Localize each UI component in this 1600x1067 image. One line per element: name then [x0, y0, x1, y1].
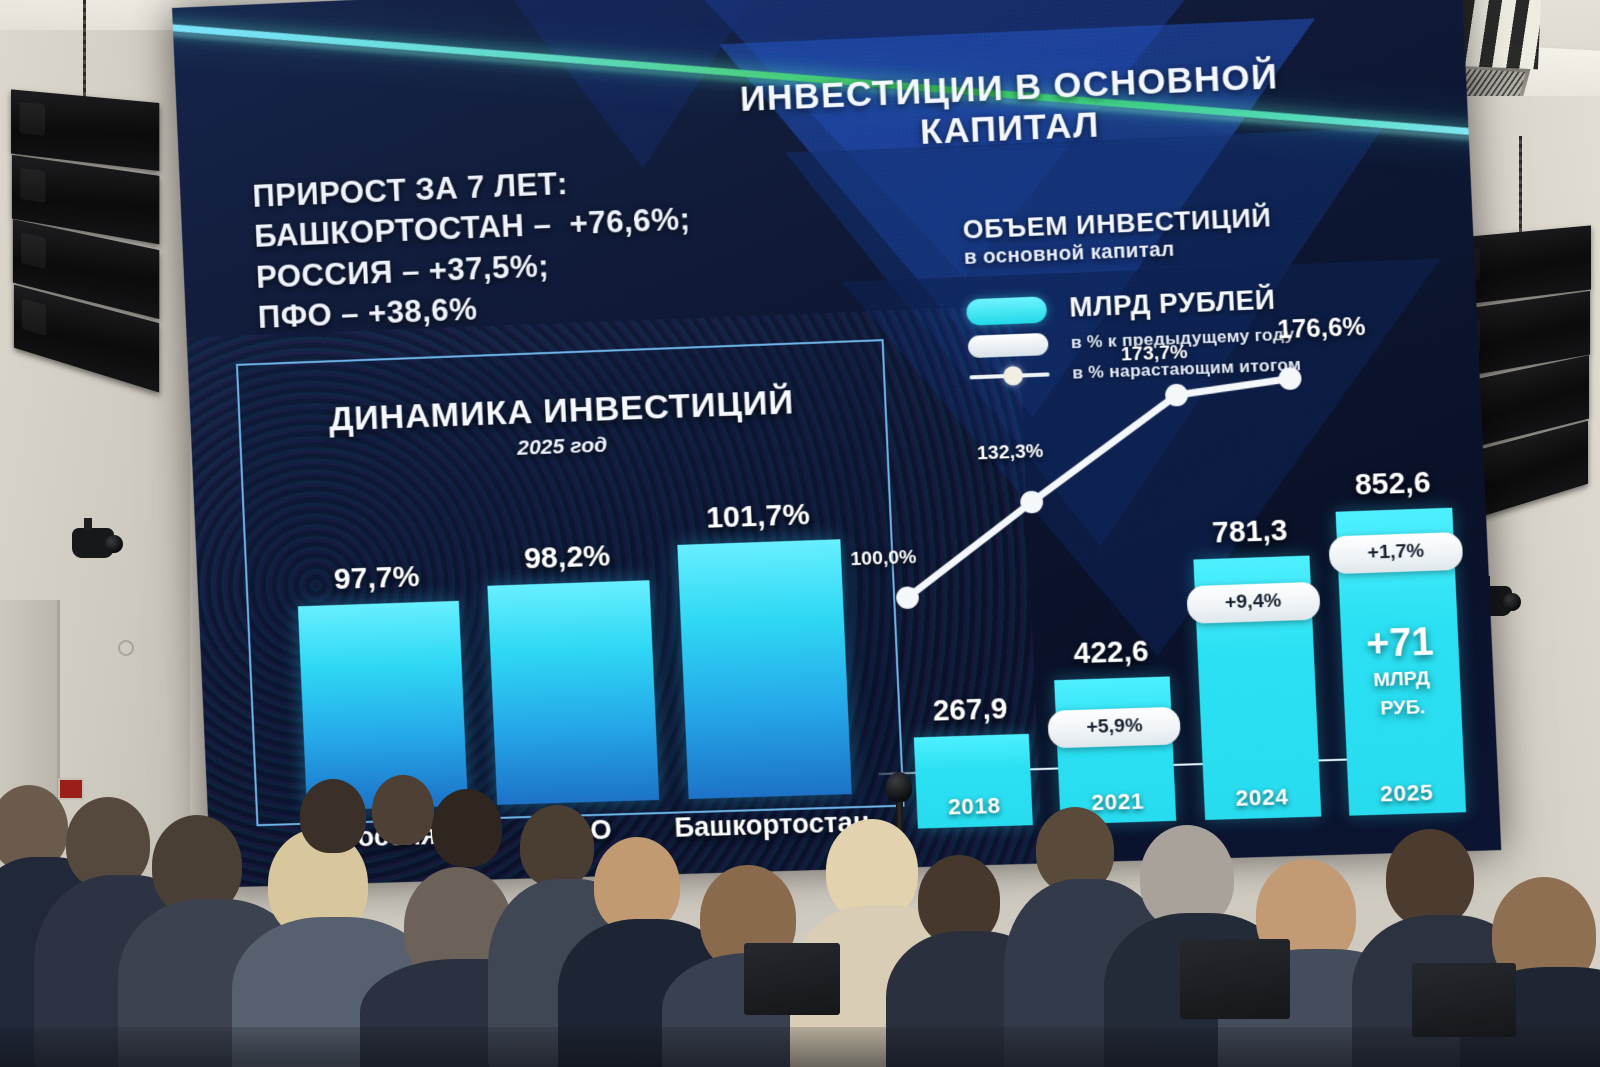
annotation-unit-2: РУБ.: [1344, 696, 1462, 723]
microphone-stand: [896, 790, 903, 896]
speaker-wire: [1519, 136, 1522, 236]
wall-camera-icon: [72, 528, 114, 558]
volume-year: 2018: [916, 792, 1032, 822]
dynamics-category: ПФО: [547, 815, 613, 848]
yoy-badge: +5,9%: [1048, 707, 1182, 749]
cyan-pill-icon: [966, 296, 1047, 325]
dynamics-bar: [487, 580, 659, 805]
smoke-detector-icon: [118, 640, 134, 656]
volume-annotation: +71 МЛРД РУБ.: [1341, 622, 1462, 723]
annotation-value: +71: [1341, 622, 1459, 665]
volume-column: 267,9 2018: [914, 734, 1033, 829]
yoy-badge: +1,7%: [1328, 532, 1463, 574]
volume-chart: 100,0% 132,3% 173,7% 176,6% 267,9: [896, 332, 1466, 829]
volume-bars: 267,9 2018 422,6 +5,9% 2021: [901, 424, 1466, 829]
volume-bar: 2018: [914, 734, 1033, 829]
volume-year: 2025: [1348, 778, 1466, 808]
legend-item-mlrd: МЛРД РУБЛЕЙ: [966, 283, 1299, 327]
cumulative-label: 176,6%: [1277, 312, 1366, 345]
speaker-array-left: [8, 96, 158, 372]
cumulative-label: 173,7%: [1121, 342, 1189, 367]
speaker-wire: [83, 0, 86, 100]
annotation-unit-1: МЛРД: [1343, 667, 1461, 694]
dynamics-value: 101,7%: [676, 497, 841, 537]
dynamics-bar: [678, 539, 853, 799]
dynamics-column: 97,7% Россия: [296, 559, 468, 811]
volume-year: 2021: [1060, 787, 1177, 817]
growth-summary: ПРИРОСТ ЗА 7 ЛЕТ: БАШКОРТОСТАН – +76,6%;…: [252, 159, 695, 338]
volume-bar: +5,9% 2021: [1055, 676, 1177, 824]
volume-column: 781,3 +9,4% 2024: [1193, 556, 1321, 820]
dynamics-column: 101,7% Башкортостан: [676, 497, 852, 799]
screenshot-stage: ИНВЕСТИЦИИ В ОСНОВНОЙ КАПИТАЛ ПРИРОСТ ЗА…: [0, 0, 1600, 1067]
volume-column: 852,6 +1,7% +71 МЛРД РУБ. 2025: [1336, 508, 1466, 816]
volume-value: 267,9: [912, 692, 1028, 729]
legend-item-label: МЛРД РУБЛЕЙ: [1069, 284, 1277, 324]
yoy-badge: +9,4%: [1186, 582, 1320, 624]
dynamics-bar: [298, 601, 468, 811]
dynamics-bars: 97,7% Россия 98,2% ПФО 101,7% Башкортост…: [244, 471, 903, 824]
dynamics-value: 98,2%: [486, 538, 649, 578]
dynamics-value: 97,7%: [296, 559, 458, 599]
volume-bar: +9,4% 2024: [1193, 556, 1321, 820]
dynamics-column: 98,2% ПФО: [486, 538, 660, 805]
volume-value: 852,6: [1334, 466, 1452, 504]
microphone-icon: [886, 772, 912, 802]
exit-sign: [58, 778, 84, 800]
dynamics-category: Башкортостан: [674, 807, 870, 844]
slide-surface: ИНВЕСТИЦИИ В ОСНОВНОЙ КАПИТАЛ ПРИРОСТ ЗА…: [172, 0, 1501, 888]
volume-bar: +1,7% +71 МЛРД РУБ. 2025: [1336, 508, 1466, 816]
volume-column: 422,6 +5,9% 2021: [1055, 676, 1177, 824]
dynamics-panel: ДИНАМИКА ИНВЕСТИЦИЙ 2025 год 97,7% Росси…: [236, 339, 905, 826]
volume-value: 781,3: [1191, 514, 1309, 552]
led-screen: ИНВЕСТИЦИИ В ОСНОВНОЙ КАПИТАЛ ПРИРОСТ ЗА…: [172, 0, 1501, 888]
volume-value: 422,6: [1053, 635, 1170, 672]
door-frame: [0, 600, 60, 900]
volume-year: 2024: [1203, 783, 1320, 813]
dynamics-category: Россия: [339, 820, 437, 854]
